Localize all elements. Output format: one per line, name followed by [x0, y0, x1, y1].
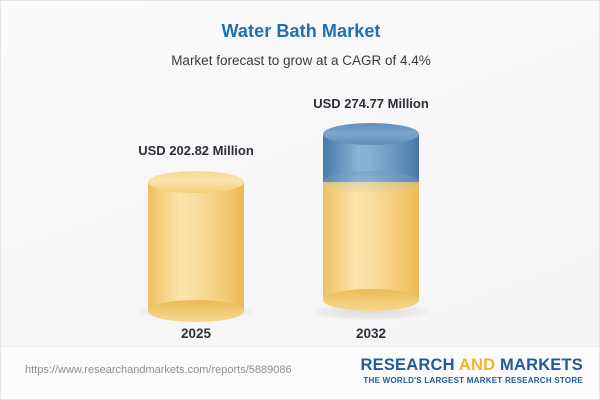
bar-top-cap-2025: [148, 171, 244, 193]
data-label-2032: USD 274.77 Million: [291, 96, 451, 111]
bar-segment-base-2025: [148, 182, 244, 311]
logo-word-research: RESEARCH: [361, 356, 459, 374]
logo-tagline: THE WORLD'S LARGEST MARKET RESEARCH STOR…: [361, 375, 584, 387]
report-url[interactable]: https://www.researchandmarkets.com/repor…: [25, 364, 292, 376]
page-title: Water Bath Market: [1, 1, 600, 42]
bar-cylinder-2032[interactable]: [323, 123, 419, 311]
logo-word-markets: MARKETS: [500, 356, 583, 374]
data-label-2025: USD 202.82 Million: [116, 143, 276, 158]
chart-plot-area: USD 202.82 Million 2025 USD 274.77 Milli…: [1, 85, 600, 341]
bar-bottom-cap-2025: [148, 300, 244, 322]
chart-header: Water Bath Market Market forecast to gro…: [1, 1, 600, 68]
bar-bottom-cap-2032: [323, 289, 419, 311]
logo-word-and: AND: [459, 356, 500, 374]
bar-cylinder-2025[interactable]: [148, 171, 244, 311]
category-label-2032: 2032: [291, 326, 451, 341]
bar-segment-seam-2032: [323, 171, 419, 193]
bar-group-2025: USD 202.82 Million 2025: [116, 85, 276, 341]
brand-logo[interactable]: RESEARCH AND MARKETS THE WORLD'S LARGEST…: [361, 356, 584, 387]
chart-subtitle: Market forecast to grow at a CAGR of 4.4…: [1, 42, 600, 68]
bar-group-2032: USD 274.77 Million 2032: [291, 85, 451, 341]
chart-poster: Water Bath Market Market forecast to gro…: [0, 0, 600, 400]
bar-segment-base-2032: [323, 182, 419, 300]
bar-top-cap-2032: [323, 123, 419, 145]
category-label-2025: 2025: [116, 326, 276, 341]
chart-footer: https://www.researchandmarkets.com/repor…: [1, 346, 600, 399]
logo-wordmark: RESEARCH AND MARKETS: [361, 356, 584, 375]
